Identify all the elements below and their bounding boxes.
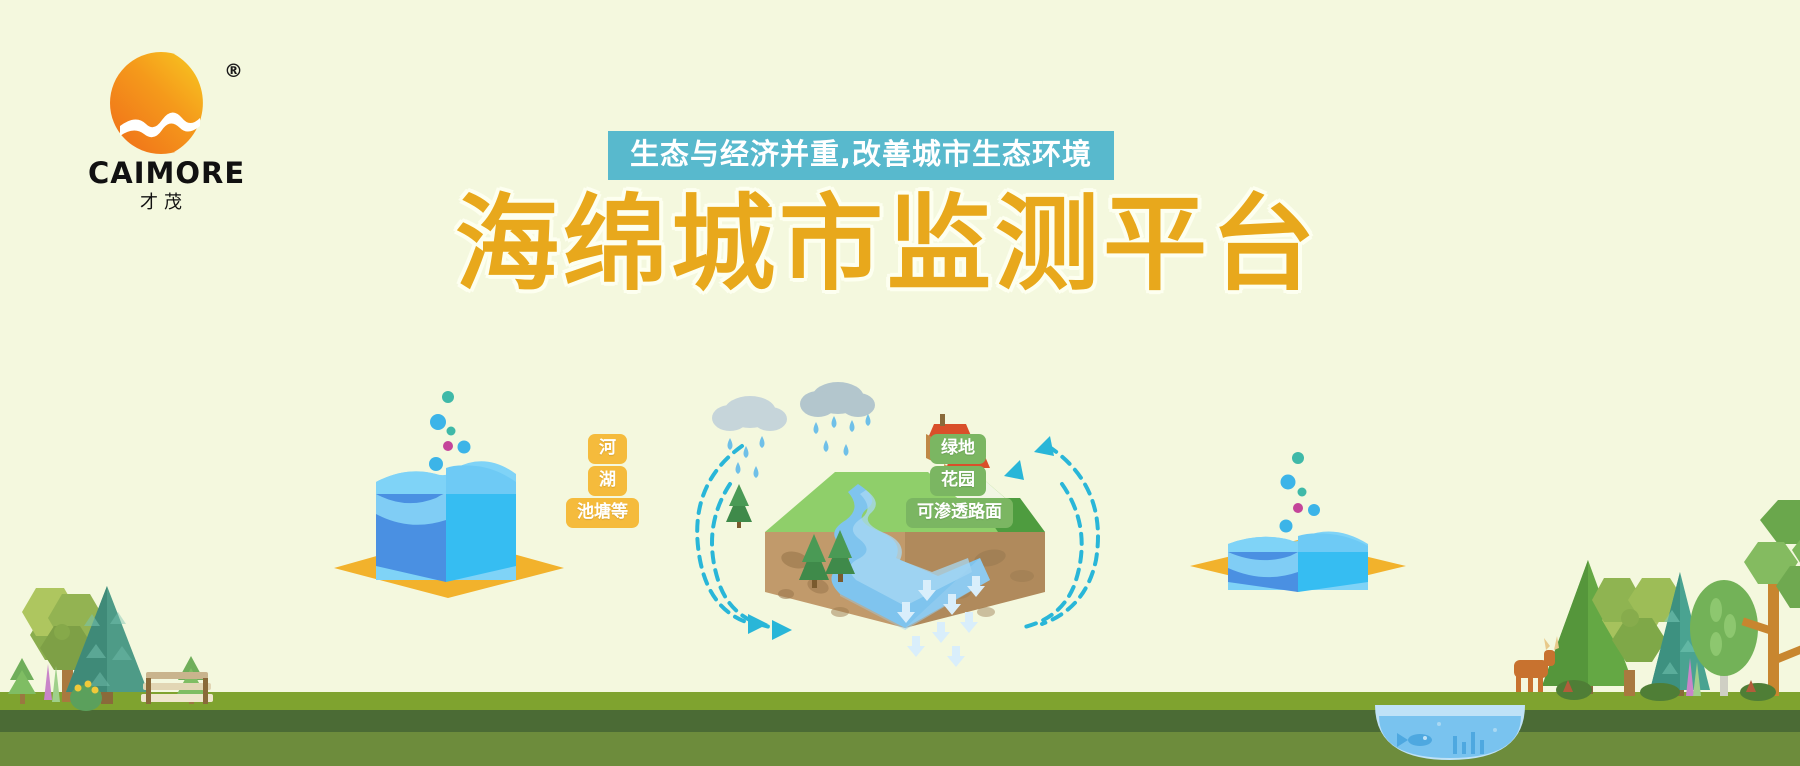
cycle-arrow-right-heads: [1004, 436, 1054, 480]
right-water-tank: [1180, 440, 1410, 610]
label-permeable-pavement: 可渗透路面: [906, 498, 1013, 528]
left-water-tank: [320, 370, 570, 600]
small-conifer-left-a: [8, 658, 36, 704]
label-green-space: 绿地: [930, 434, 986, 464]
brand-name-en: CAIMORE: [88, 156, 240, 190]
label-pond-etc: 池塘等: [566, 498, 639, 528]
right-scenery: [1530, 500, 1800, 710]
caimore-crescent-icon: [96, 48, 226, 158]
sponge-city-diagram: [690, 380, 1110, 680]
cycle-arrow-left: [697, 446, 776, 628]
water-bubbles-right: [1280, 452, 1321, 533]
subtitle-container: 生态与经济并重,改善城市生态环境: [608, 131, 1114, 180]
rain-cloud-right: [800, 382, 875, 417]
banner-canvas: ® CAIMORE 才茂 生态与经济并重,改善城市生态环境 海绵城市监测平台: [0, 0, 1800, 766]
water-bubbles-left: [429, 391, 471, 471]
rain-cloud-left: [712, 396, 787, 431]
cycle-arrow-left-heads: [748, 614, 792, 640]
brand-name-cn: 才茂: [88, 188, 240, 214]
rain-drops-left: [728, 436, 765, 478]
registered-trademark-icon: ®: [224, 60, 243, 82]
page-title: 海绵城市监测平台: [455, 186, 1355, 302]
park-bench: [141, 672, 213, 704]
pond-with-fish: [1335, 700, 1585, 766]
brand-logo: ® CAIMORE 才茂: [88, 48, 248, 218]
subtitle-banner: 生态与经济并重,改善城市生态环境: [608, 131, 1114, 180]
rain-drops-right: [814, 414, 871, 456]
label-lake: 湖: [588, 466, 627, 496]
left-scenery: [0, 540, 250, 710]
label-garden: 花园: [930, 466, 986, 496]
label-river: 河: [588, 434, 627, 464]
